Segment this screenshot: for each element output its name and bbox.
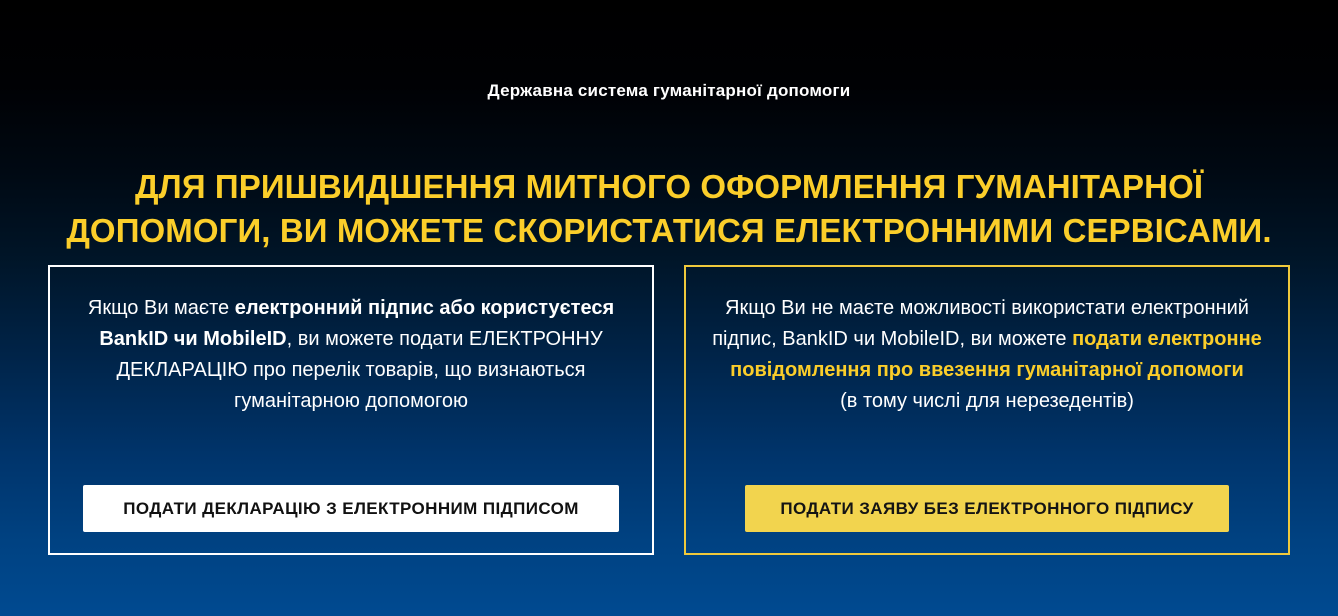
card-action-area: ПОДАТИ ДЕКЛАРАЦІЮ З ЕЛЕКТРОННИМ ПІДПИСОМ — [50, 485, 652, 532]
card-action-area: ПОДАТИ ЗАЯВУ БЕЗ ЕЛЕКТРОННОГО ПІДПИСУ — [686, 485, 1288, 532]
headline: ДЛЯ ПРИШВИДШЕННЯ МИТНОГО ОФОРМЛЕННЯ ГУМА… — [50, 165, 1288, 253]
card-description: Якщо Ви маєте електронний підпис або кор… — [68, 293, 634, 417]
card-description: Якщо Ви не маєте можливості використати … — [704, 293, 1270, 417]
page-background: Державна система гуманітарної допомоги Д… — [0, 0, 1338, 616]
submit-declaration-with-signature-button[interactable]: ПОДАТИ ДЕКЛАРАЦІЮ З ЕЛЕКТРОННИМ ПІДПИСОМ — [83, 485, 619, 532]
cards-container: Якщо Ви маєте електронний підпис або кор… — [48, 265, 1290, 555]
submit-application-without-signature-button[interactable]: ПОДАТИ ЗАЯВУ БЕЗ ЕЛЕКТРОННОГО ПІДПИСУ — [745, 485, 1229, 532]
page-title: Державна система гуманітарної допомоги — [0, 80, 1338, 102]
card-declaration-with-signature: Якщо Ви маєте електронний підпис або кор… — [48, 265, 654, 555]
card-application-without-signature: Якщо Ви не маєте можливості використати … — [684, 265, 1290, 555]
